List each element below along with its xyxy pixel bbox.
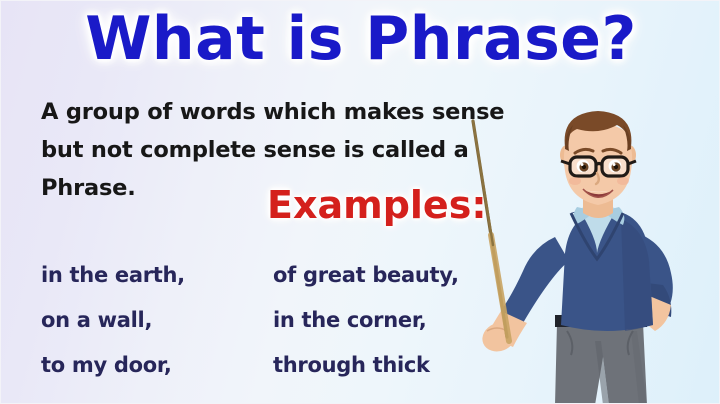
cheek-blush	[617, 177, 629, 185]
example-item: to my door,	[41, 343, 185, 388]
example-item: of great beauty,	[273, 253, 459, 298]
example-item: on a wall,	[41, 298, 185, 343]
examples-column-right: of great beauty, in the corner, through …	[273, 253, 459, 388]
page-title: What is Phrase?	[1, 4, 720, 74]
cheek-blush	[569, 177, 581, 185]
example-item: in the earth,	[41, 253, 185, 298]
example-item: through thick	[273, 343, 459, 388]
pointer-stick	[473, 121, 509, 341]
example-item: in the corner,	[273, 298, 459, 343]
examples-heading: Examples:	[267, 183, 487, 227]
trousers	[555, 323, 647, 404]
teacher-character-illustration	[471, 109, 720, 404]
examples-column-left: in the earth, on a wall, to my door,	[41, 253, 185, 388]
lesson-slide: What is Phrase? A group of words which m…	[0, 0, 720, 404]
